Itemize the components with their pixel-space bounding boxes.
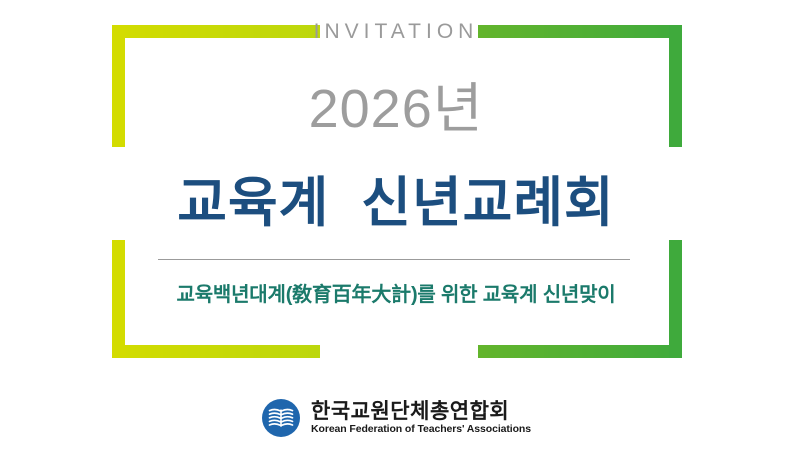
organization-name-en: Korean Federation of Teachers' Associati… — [311, 424, 531, 435]
title-divider — [158, 259, 630, 260]
kfta-book-waves-circle-icon — [261, 398, 301, 438]
organization-name-kr: 한국교원단체총연합회 — [311, 401, 509, 424]
invitation-poster: INVITATION 2026년 교육계 신년교례회 교육백년대계(敎育百年大計… — [0, 0, 792, 453]
organization-logo: 한국교원단체총연합회 Korean Federation of Teachers… — [0, 398, 792, 438]
poster-content: INVITATION 2026년 교육계 신년교례회 교육백년대계(敎育百年大計… — [0, 0, 792, 453]
poster-main-title: 교육계 신년교례회 — [0, 158, 792, 237]
poster-year: 2026년 — [0, 64, 792, 143]
poster-subtitle: 교육백년대계(敎育百年大計)를 위한 교육계 신년맞이 — [0, 278, 792, 307]
organization-name-block: 한국교원단체총연합회 Korean Federation of Teachers… — [311, 401, 531, 436]
invitation-kicker: INVITATION — [0, 20, 792, 44]
